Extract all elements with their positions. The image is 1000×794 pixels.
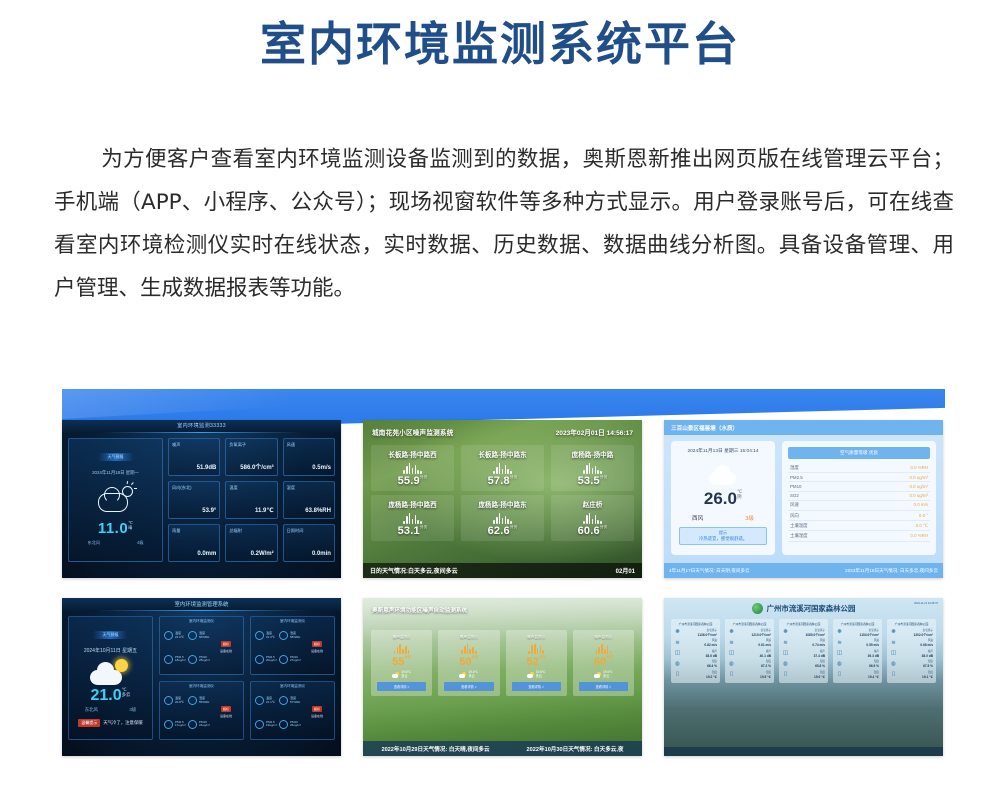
metric-value: 27ug/m³	[290, 658, 301, 662]
station-value: 60.6分贝	[552, 525, 633, 537]
panel-title: 广州市流溪河国家森林公园	[782, 622, 825, 626]
metric-cell[interactable]: 总辐射0.2W/m²	[225, 524, 277, 562]
noise-station-card[interactable]: 庞杨路-扬中路东 62.6分贝	[461, 495, 544, 541]
reading-label: SO2	[790, 493, 799, 498]
metric-value: 56%RH	[199, 635, 209, 639]
device-metric: 湿度58%RH	[279, 625, 301, 647]
timestamp: 2024-11-21 10:25:37	[914, 602, 938, 605]
noise-icon: ◫	[674, 650, 681, 657]
water-footer: 4年11月17日天气情况: 白天阴,夜间多云 2024年11月18日天气情况: …	[664, 563, 943, 578]
metric-value: 57%RH	[290, 700, 300, 704]
weather-temperature: 11.0℃晴	[69, 520, 162, 537]
panel-row: ❋负氧离子1136.0个/cm³	[674, 629, 717, 637]
screenshot-forest-park[interactable]: 广州市流溪河国家森林公园 2024-11-21 10:25:37 广州市流溪河国…	[664, 598, 943, 756]
reading-row: 土壤温度0.0 ℃	[788, 521, 930, 531]
gallery-row-1: 室内环境监测33333 天气预报 2024年11月18日 星期一 11.0℃晴 …	[62, 420, 945, 578]
screenshot-community-noise[interactable]: 城南花苑小区噪声监测系统 2023年02月01日 14:56:17 长板路-扬中…	[363, 420, 642, 578]
station-value: 53.1分贝	[372, 525, 453, 537]
footer-right-text: 2022年10月30日天气情况: 白天多云,夜	[527, 745, 624, 753]
device-status: 超标 设备在线	[304, 690, 330, 735]
metric-value: 63.8%RH	[305, 508, 331, 514]
wx-desc: 多云	[401, 674, 407, 678]
noise-station-card[interactable]: 赵庄桥 60.6分贝	[551, 495, 634, 541]
sun-cloud-icon	[459, 672, 466, 678]
device-card[interactable]: 室内环境监测仪 温度20.8℃ 湿度55%RH PM2.517ug/m³ PM1…	[159, 681, 244, 740]
reading-label: 土壤温度	[790, 523, 808, 529]
comfort-tip: 提示 冷热适宜，感觉很舒适。	[679, 527, 767, 545]
panel-row: ◍湿度67.5 %	[890, 660, 933, 668]
reading-row: 风速0.0 m/s	[788, 501, 930, 511]
partly-cloudy-icon	[96, 484, 136, 514]
row-value: 1302.0个/cm³	[899, 633, 933, 637]
reading-label: 湿度	[790, 465, 799, 471]
station-value: 52分贝	[508, 656, 565, 668]
zone-station-card[interactable]: 噪声监测点 55分贝 19.6℃多云 查看详情 >	[371, 630, 432, 696]
panel-row: ❋负氧离子1154.0个/cm³	[836, 629, 879, 637]
metric-cell[interactable]: 负氧离子586.0个/cm³	[225, 438, 277, 476]
tip-text: 天气冷了，注意保暖	[103, 720, 143, 726]
reading-value: 0.0 ℃	[916, 523, 928, 529]
wind-icon: ≋	[674, 640, 681, 647]
reading-label: 风速	[790, 502, 799, 508]
device-name: 室内环境监测仪	[160, 684, 243, 689]
forest-footer	[664, 747, 943, 756]
forest-title: 广州市流溪河国家森林公园	[767, 603, 856, 614]
weather-datetime: 2024年10月11日 星期五	[69, 647, 152, 654]
device-metric: 湿度57%RH	[279, 690, 301, 712]
water-title: 三百山景区福鉴塘（水质）	[671, 424, 738, 432]
reading-row: 风向0.0 °	[788, 511, 930, 521]
row-value: 19.0 ℃	[791, 675, 825, 679]
gauge-icon	[279, 655, 288, 664]
reading-label: PM2.5	[790, 475, 803, 480]
noise-icon: ◫	[890, 650, 897, 657]
sun-cloud-icon	[392, 672, 399, 678]
waveform-icon	[552, 512, 633, 524]
weather-caption: 天气预报	[98, 453, 134, 461]
metric-value: 0.2W/m²	[251, 551, 274, 557]
status-text: 设备在线	[220, 650, 232, 653]
noise-icon: ◫	[728, 650, 735, 657]
row-value: 1210.0个/cm³	[737, 633, 771, 637]
station-name: 噪声监测点	[373, 635, 430, 640]
tip-badge: 温馨提示	[78, 719, 100, 727]
management-header: 室内环境监测管理系统	[62, 598, 341, 611]
waveform-icon	[373, 643, 430, 654]
device-grid: 室内环境监测仪 温度21.0℃ 湿度56%RH PM2.518ug/m³ PM1…	[159, 616, 335, 740]
waveform-icon	[372, 512, 453, 524]
wind-icon: ≋	[728, 640, 735, 647]
metric-value: 18ug/m³	[175, 658, 186, 662]
screenshot-indoor-env-monitor[interactable]: 室内环境监测33333 天气预报 2024年11月18日 星期一 11.0℃晴 …	[62, 420, 341, 578]
noise-station-card[interactable]: 庞杨路-扬中路 53.5分贝	[551, 445, 634, 491]
humidity-icon: ◍	[782, 661, 789, 668]
device-metric: PM1026ug/m³	[279, 714, 301, 736]
forest-panel[interactable]: 广州市流溪河国家森林公园 ❋负氧离子1210.0个/cm³ ≋风速0.61 m/…	[725, 619, 774, 683]
device-card[interactable]: 室内环境监测仪 温度21.3℃ 湿度58%RH PM2.520ug/m³ PM1…	[250, 616, 335, 675]
promo-page: 室内环境监测系统平台 为方便客户查看室内环境监测设备监测到的数据，奥斯恩新推出网…	[0, 0, 1000, 794]
gauge-icon	[255, 720, 264, 729]
device-name: 室内环境监测仪	[251, 619, 334, 624]
metric-value: 26ug/m³	[290, 723, 301, 727]
panel-row: ◫噪声38.6 dB	[674, 650, 717, 658]
device-metric: 温度21.3℃	[255, 625, 277, 647]
gauge-icon	[164, 655, 173, 664]
noise-station-card[interactable]: 庞杨路-扬中路西 53.1分贝	[371, 495, 454, 541]
panel-row: ◫噪声40.1 dB	[728, 650, 771, 658]
gauge-icon	[255, 655, 264, 664]
waveform-icon	[575, 643, 632, 654]
row-value: 0.61 m/s	[737, 643, 771, 647]
station-weather: 19.6℃多云	[575, 671, 632, 678]
panel-row: ◍湿度66.4 %	[674, 660, 717, 668]
device-metric: PM2.520ug/m³	[255, 649, 277, 671]
device-metric: 湿度55%RH	[188, 690, 210, 712]
wx-desc: 多云	[603, 674, 609, 678]
panel-row: ≋风速0.82 m/s	[674, 639, 717, 647]
water-body: 2024年11月13日 星期三 15:04:14 26.0℃阴 西风 3级 提示…	[664, 435, 943, 561]
footer-left-text: 4年11月17日天气情况: 白天阴,夜间多云	[669, 568, 750, 574]
dashboard-title: 室内环境监测33333	[62, 422, 341, 429]
screenshot-zone-noise-auto[interactable]: 奥斯恩声环境功能区噪声自动监测系统 噪声监测点 55分贝 19.6℃多云 查看详…	[363, 598, 642, 756]
station-name: 赵庄桥	[552, 499, 633, 509]
panel-row: ≋风速0.55 m/s	[836, 639, 879, 647]
row-value: 1085.0个/cm³	[791, 633, 825, 637]
device-metric: PM2.517ug/m³	[164, 714, 186, 736]
negative-ion-icon: ❋	[782, 629, 789, 636]
reading-row: 湿度0.0 %RH	[788, 463, 930, 473]
device-name: 室内环境监测仪	[251, 684, 334, 689]
metric-cell[interactable]: 风速0.5m/s	[283, 438, 335, 476]
reading-label: 土壤湿度	[790, 533, 808, 539]
status-badge: 超标	[312, 706, 322, 712]
sun-cloud-icon	[527, 672, 534, 678]
sun-behind-cloud-icon	[88, 659, 132, 685]
metric-grid: 噪声51.9dB 负氧离子586.0个/cm³ 风速0.5m/s 风向(东北)5…	[168, 438, 335, 562]
forest-panel[interactable]: 广州市流溪河国家森林公园 ❋负氧离子1136.0个/cm³ ≋风速0.82 m/…	[671, 619, 720, 683]
device-metric: PM1024ug/m³	[188, 714, 210, 736]
metric-label: 温度	[229, 485, 237, 491]
dashboard-body: 天气预报 2024年11月18日 星期一 11.0℃晴 东北风 4级	[62, 433, 341, 567]
waveform-icon	[462, 512, 543, 524]
waveform-icon	[508, 643, 565, 654]
waveform-icon	[372, 462, 453, 474]
metric-value: 21.1℃	[266, 700, 275, 704]
reading-row: SO20.0 ug/m³	[788, 492, 930, 501]
view-detail-button[interactable]: 查看详情 >	[579, 682, 628, 691]
weather-wind: 东北风 3级	[69, 707, 152, 713]
noise-icon: ◫	[782, 650, 789, 657]
footer-right-text: 2024年11月18日天气情况: 白天多云,夜间多云	[845, 568, 938, 574]
weather-datetime: 2024年11月13日 星期三 15:04:14	[671, 447, 775, 454]
waveform-icon	[552, 462, 633, 474]
footer-right-text: 02月01	[616, 566, 635, 575]
wind-direction: 东北风	[87, 540, 100, 546]
weather-wind: 东北风 4级	[69, 540, 162, 546]
metric-value: 51.9dB	[197, 465, 217, 471]
gauge-icon	[164, 631, 173, 640]
wind-level: 3级	[129, 707, 136, 713]
panel-row: ≋风速0.68 m/s	[890, 639, 933, 647]
device-card[interactable]: 室内环境监测仪 温度21.1℃ 湿度57%RH PM2.519ug/m³ PM1…	[250, 681, 335, 740]
device-name: 室内环境监测仪	[160, 619, 243, 624]
status-text: 设备在线	[220, 715, 232, 718]
station-name: 噪声监测点	[575, 635, 632, 640]
footer-left-text: 2022年10月29日天气情况: 白天晴,夜间多云	[381, 745, 489, 753]
device-metric: PM2.518ug/m³	[164, 649, 186, 671]
metric-value: 55%RH	[199, 700, 209, 704]
device-metric: PM1025ug/m³	[188, 649, 210, 671]
row-value: 19.5 ℃	[737, 675, 771, 679]
metric-value: 17ug/m³	[175, 723, 186, 727]
row-value: 66.9 %	[845, 664, 879, 668]
device-status: 超标 设备在线	[304, 625, 330, 670]
panel-row: ❋负氧离子1085.0个/cm³	[782, 629, 825, 637]
row-value: 67.5 %	[899, 664, 933, 668]
wind-level: 3级	[745, 514, 754, 522]
temperature-icon: ▯	[674, 671, 681, 678]
panel-row: ▯温度19.5 ℃	[728, 671, 771, 679]
metric-label: 风向(东北)	[172, 485, 192, 491]
station-name: 庞杨路-扬中路东	[462, 499, 543, 509]
forest-panel[interactable]: 广州市流溪河国家森林公园 ❋负氧离子1302.0个/cm³ ≋风速0.68 m/…	[887, 619, 936, 683]
panel-title: 广州市流溪河国家森林公园	[674, 622, 717, 626]
row-value: 0.82 m/s	[683, 643, 717, 647]
panel-title: 广州市流溪河国家森林公园	[728, 622, 771, 626]
weather-caption: 天气预报	[93, 631, 127, 639]
status-badge: 超标	[221, 706, 231, 712]
row-value: 1154.0个/cm³	[845, 633, 879, 637]
metric-value: 53.9°	[202, 508, 216, 514]
station-name: 噪声监测点	[508, 635, 565, 640]
row-value: 0.74 m/s	[791, 643, 825, 647]
station-weather: 19.6℃多云	[508, 671, 565, 678]
gallery-row-2: 室内环境监测管理系统 天气预报 2024年10月11日 星期五 21.0℃多云 …	[62, 598, 945, 756]
noise-station-card[interactable]: 长板路-扬中路东 57.8分贝	[461, 445, 544, 491]
device-metric: 温度21.0℃	[164, 625, 186, 647]
panel-row: ◍湿度65.8 %	[782, 660, 825, 668]
zone-station-card[interactable]: 噪声监测点 52分贝 19.6℃多云 查看详情 >	[506, 630, 567, 696]
row-value: 65.8 %	[791, 664, 825, 668]
row-value: 38.0 dB	[899, 654, 933, 658]
metric-value: 58%RH	[290, 635, 300, 639]
status-badge: 超标	[221, 641, 231, 647]
row-value: 37.4 dB	[791, 654, 825, 658]
reading-value: 0.0 °	[919, 513, 928, 519]
panel-row: ≋风速0.74 m/s	[782, 639, 825, 647]
zone-noise-footer: 2022年10月29日天气情况: 白天晴,夜间多云 2022年10月30日天气情…	[363, 741, 642, 756]
metric-value: 0.0mm	[197, 551, 216, 557]
panel-title: 广州市流溪河国家森林公园	[836, 622, 879, 626]
wind-direction: 西风	[692, 514, 703, 522]
weather-datetime: 2024年11月18日 星期一	[69, 470, 162, 476]
metric-value: 586.0个/cm³	[240, 462, 273, 471]
noise-footer: 日的天气情况:白天多云,夜间多云 02月01	[363, 563, 642, 578]
noise-station-rows: 长板路-扬中路西 55.9分贝 长板路-扬中路东 57.8分贝 庞杨路-扬中路	[363, 437, 642, 545]
gauge-icon	[164, 720, 173, 729]
dashboard-header: 室内环境监测33333	[62, 420, 341, 433]
metric-value: 21.3℃	[266, 635, 275, 639]
wx-desc: 多云	[468, 674, 474, 678]
station-name: 庞杨路-扬中路西	[372, 499, 453, 509]
device-card[interactable]: 室内环境监测仪 温度21.0℃ 湿度56%RH PM2.518ug/m³ PM1…	[159, 616, 244, 675]
metric-label: 日照时间	[287, 528, 304, 534]
negative-ion-icon: ❋	[674, 629, 681, 636]
humidity-icon: ◍	[674, 661, 681, 668]
station-weather: 19.6℃多云	[373, 671, 430, 678]
wind-icon: ≋	[890, 640, 897, 647]
panel-row: ▯温度19.2 ℃	[674, 671, 717, 679]
weather-temperature: 21.0℃多云	[69, 687, 152, 705]
row-value: 19.2 ℃	[683, 675, 717, 679]
forest-panel[interactable]: 广州市流溪河国家森林公园 ❋负氧离子1154.0个/cm³ ≋风速0.55 m/…	[833, 619, 882, 683]
temperature-icon: ▯	[782, 671, 789, 678]
noise-datetime: 2023年02月01日 14:56:17	[556, 427, 633, 437]
screenshot-indoor-management[interactable]: 室内环境监测管理系统 天气预报 2024年10月11日 星期五 21.0℃多云 …	[62, 598, 341, 756]
cloud-icon	[703, 463, 743, 485]
metric-cell[interactable]: 日照时间0.0min	[283, 524, 335, 562]
station-value: 62.6分贝	[462, 525, 543, 537]
reading-row: PM100.0 ug/m³	[788, 482, 930, 491]
reading-value: 0.0 ug/m³	[909, 475, 928, 480]
gauge-icon	[188, 720, 197, 729]
gauge-icon	[255, 631, 264, 640]
gauge-icon	[255, 696, 264, 705]
station-value: 55.9分贝	[372, 475, 453, 487]
panel-row: ◫噪声37.4 dB	[782, 650, 825, 658]
noise-header: 城南花苑小区噪声监测系统 2023年02月01日 14:56:17	[363, 420, 642, 437]
reading-value: 0.0 ug/m³	[909, 493, 928, 498]
metric-value: 0.0min	[312, 551, 331, 557]
wind-level: 4级	[137, 540, 144, 546]
reading-row: PM2.50.0 ug/m³	[788, 473, 930, 482]
metric-value: 20ug/m³	[266, 658, 277, 662]
management-body: 天气预报 2024年10月11日 星期五 21.0℃多云 东北风 3级 温馨提示…	[62, 611, 341, 745]
zone-station-card[interactable]: 噪声监测点 60分贝 19.6℃多云 查看详情 >	[573, 630, 634, 696]
panel-row: ◫噪声38.0 dB	[890, 650, 933, 658]
panel-row: ▯温度19.1 ℃	[890, 671, 933, 679]
status-badge: 超标	[312, 641, 322, 647]
noise-row: 长板路-扬中路西 55.9分贝 长板路-扬中路东 57.8分贝 庞杨路-扬中路	[371, 445, 634, 491]
reading-value: 0.0 %RH	[910, 465, 928, 471]
weather-wind: 西风 3级	[671, 514, 775, 522]
temperature-icon: ▯	[890, 671, 897, 678]
panel-row: ▯温度19.0 ℃	[782, 671, 825, 679]
forest-panel[interactable]: 广州市流溪河国家森林公园 ❋负氧离子1085.0个/cm³ ≋风速0.74 m/…	[779, 619, 828, 683]
forest-header: 广州市流溪河国家森林公园	[664, 598, 943, 614]
park-logo-icon	[752, 603, 763, 614]
panel-row: ◍湿度66.9 %	[836, 660, 879, 668]
gauge-icon	[188, 655, 197, 664]
view-detail-button[interactable]: 查看详情 >	[377, 682, 426, 691]
gauge-icon	[279, 696, 288, 705]
humidity-icon: ◍	[728, 661, 735, 668]
metric-cell[interactable]: 风向(东北)53.9°	[168, 481, 220, 519]
station-value: 57.8分贝	[462, 475, 543, 487]
metric-label: 雨量	[172, 528, 180, 534]
metric-cell[interactable]: 雨量0.0mm	[168, 524, 220, 562]
weather-panel: 2024年11月13日 星期三 15:04:14 26.0℃阴 西风 3级 提示…	[671, 441, 775, 555]
screenshot-water-quality[interactable]: 三百山景区福鉴塘（水质） 2024年11月13日 星期三 15:04:14 26…	[664, 420, 943, 578]
metric-value: 24ug/m³	[199, 723, 210, 727]
wx-desc: 多云	[536, 674, 542, 678]
gauge-icon	[279, 631, 288, 640]
view-detail-button[interactable]: 查看详情 >	[512, 682, 561, 691]
metric-cell[interactable]: 噪声51.9dB	[168, 438, 220, 476]
device-status: 超标 设备在线	[213, 625, 239, 670]
device-metric: 温度20.8℃	[164, 690, 186, 712]
reading-value: 0.0 ug/m³	[909, 484, 928, 489]
page-title: 室内环境监测系统平台	[0, 8, 1000, 74]
metric-cell[interactable]: 湿度63.8%RH	[283, 481, 335, 519]
status-text: 设备在线	[311, 650, 323, 653]
reading-label: PM10	[790, 484, 801, 489]
gauge-icon	[164, 696, 173, 705]
station-weather: 19.6℃多云	[440, 671, 497, 678]
intro-paragraph: 为方便客户查看室内环境监测设备监测到的数据，奥斯恩新推出网页版在线管理云平台；手…	[54, 138, 954, 310]
device-metric: 湿度56%RH	[188, 625, 210, 647]
metric-value: 0.5m/s	[312, 465, 331, 471]
noise-icon: ◫	[836, 650, 843, 657]
temperature-icon: ▯	[836, 671, 843, 678]
view-detail-button[interactable]: 查看详情 >	[444, 682, 493, 691]
row-value: 39.3 dB	[845, 654, 879, 658]
row-value: 19.4 ℃	[845, 675, 879, 679]
wind-icon: ≋	[836, 640, 843, 647]
gauge-icon	[279, 720, 288, 729]
zone-station-card[interactable]: 噪声监测点 50分贝 19.6℃多云 查看详情 >	[438, 630, 499, 696]
panel-row: ▯温度19.4 ℃	[836, 671, 879, 679]
station-name: 长板路-扬中路东	[462, 449, 543, 459]
metric-value: 21.0℃	[175, 635, 184, 639]
negative-ion-icon: ❋	[890, 629, 897, 636]
metric-value: 20.8℃	[175, 700, 184, 704]
humidity-icon: ◍	[836, 661, 843, 668]
row-value: 67.2 %	[737, 664, 771, 668]
forest-panels: 广州市流溪河国家森林公园 ❋负氧离子1136.0个/cm³ ≋风速0.82 m/…	[664, 614, 943, 683]
row-value: 19.1 ℃	[899, 675, 933, 679]
station-value: 50分贝	[440, 656, 497, 668]
panel-title: 广州市流溪河国家森林公园	[890, 622, 933, 626]
panel-row: ≋风速0.61 m/s	[728, 639, 771, 647]
metric-label: 噪声	[172, 442, 180, 448]
metric-cell[interactable]: 温度11.9℃	[225, 481, 277, 519]
negative-ion-icon: ❋	[728, 629, 735, 636]
station-name: 噪声监测点	[440, 635, 497, 640]
panel-row: ❋负氧离子1210.0个/cm³	[728, 629, 771, 637]
reading-row: 土壤湿度0.0 %RH	[788, 531, 930, 541]
wind-icon: ≋	[782, 640, 789, 647]
negative-ion-icon: ❋	[836, 629, 843, 636]
metric-value: 25ug/m³	[199, 658, 210, 662]
metric-label: 总辐射	[229, 528, 242, 534]
reading-value: 0.0 m/s	[914, 502, 928, 508]
gauge-icon	[188, 696, 197, 705]
row-value: 0.68 m/s	[899, 643, 933, 647]
metric-value: 19ug/m³	[266, 723, 277, 727]
weather-panel: 天气预报 2024年11月18日 星期一 11.0℃晴 东北风 4级	[68, 438, 163, 562]
management-title: 室内环境监测管理系统	[62, 600, 341, 608]
weather-panel: 天气预报 2024年10月11日 星期五 21.0℃多云 东北风 3级 温馨提示…	[68, 616, 153, 740]
screenshot-gallery: 室内环境监测33333 天气预报 2024年11月18日 星期一 11.0℃晴 …	[62, 420, 945, 756]
row-value: 66.4 %	[683, 664, 717, 668]
noise-station-card[interactable]: 长板路-扬中路西 55.9分贝	[371, 445, 454, 491]
station-value: 60分贝	[575, 656, 632, 668]
station-value: 55分贝	[373, 656, 430, 668]
weather-tip: 温馨提示 天气冷了，注意保暖	[69, 719, 152, 727]
tip-body: 冷热适宜，感觉很舒适。	[682, 536, 764, 542]
sun-cloud-icon	[594, 672, 601, 678]
